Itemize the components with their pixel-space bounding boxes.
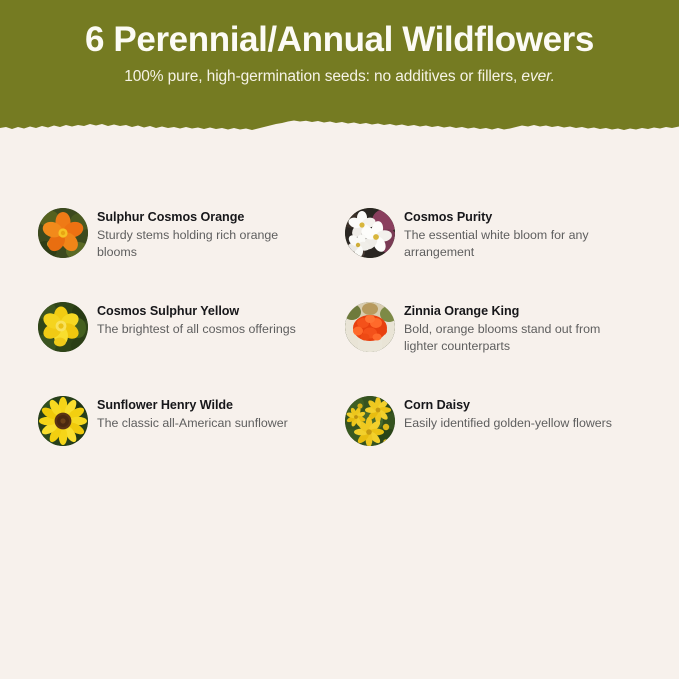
flower-thumbnail-zinnia-orange-king-icon <box>345 302 395 352</box>
page-subtitle-emphasis: ever. <box>521 68 554 85</box>
list-item-description: Easily identified golden-yellow flowers <box>404 415 612 432</box>
seed-variety-list: Sulphur Cosmos Orange Sturdy stems holdi… <box>0 196 679 478</box>
flower-thumbnail-sunflower-henry-wilde-icon <box>38 396 88 446</box>
list-item-text: Cosmos Sulphur Yellow The brightest of a… <box>97 290 296 338</box>
flower-thumbnail-corn-daisy-icon <box>345 396 395 446</box>
page-title: 6 Perennial/Annual Wildflowers <box>85 22 594 59</box>
list-item-text: Corn Daisy Easily identified golden-yell… <box>404 384 612 432</box>
list-item-text: Sunflower Henry Wilde The classic all-Am… <box>97 384 288 432</box>
list-item-description: The essential white bloom for any arrang… <box>404 227 619 261</box>
list-item-description: The brightest of all cosmos offerings <box>97 321 296 338</box>
list-item[interactable]: Sulphur Cosmos Orange Sturdy stems holdi… <box>38 196 345 290</box>
list-item-title: Sulphur Cosmos Orange <box>97 210 312 225</box>
list-item-title: Corn Daisy <box>404 398 612 413</box>
list-item[interactable]: Cosmos Purity The essential white bloom … <box>345 196 652 290</box>
list-item-text: Cosmos Purity The essential white bloom … <box>404 196 619 261</box>
list-item-description: The classic all-American sunflower <box>97 415 288 432</box>
page-subtitle-main: 100% pure, high-germination seeds: no ad… <box>124 68 521 85</box>
list-item-description: Sturdy stems holding rich orange blooms <box>97 227 312 261</box>
list-item[interactable]: Sunflower Henry Wilde The classic all-Am… <box>38 384 345 478</box>
list-item-title: Cosmos Purity <box>404 210 619 225</box>
flower-thumbnail-sulphur-cosmos-orange-icon <box>38 208 88 258</box>
flower-thumbnail-cosmos-purity-icon <box>345 208 395 258</box>
list-item[interactable]: Cosmos Sulphur Yellow The brightest of a… <box>38 290 345 384</box>
list-item[interactable]: Zinnia Orange King Bold, orange blooms s… <box>345 290 652 384</box>
flower-thumbnail-cosmos-sulphur-yellow-icon <box>38 302 88 352</box>
list-item-description: Bold, orange blooms stand out from light… <box>404 321 619 355</box>
list-item-title: Zinnia Orange King <box>404 304 619 319</box>
list-item-text: Sulphur Cosmos Orange Sturdy stems holdi… <box>97 196 312 261</box>
list-item-title: Sunflower Henry Wilde <box>97 398 288 413</box>
torn-paper-edge-icon <box>0 120 679 142</box>
header-banner-content: 6 Perennial/Annual Wildflowers 100% pure… <box>0 0 679 128</box>
header-banner: 6 Perennial/Annual Wildflowers 100% pure… <box>0 0 679 142</box>
list-item[interactable]: Corn Daisy Easily identified golden-yell… <box>345 384 652 478</box>
list-item-text: Zinnia Orange King Bold, orange blooms s… <box>404 290 619 355</box>
page-subtitle: 100% pure, high-germination seeds: no ad… <box>124 68 555 86</box>
list-item-title: Cosmos Sulphur Yellow <box>97 304 296 319</box>
